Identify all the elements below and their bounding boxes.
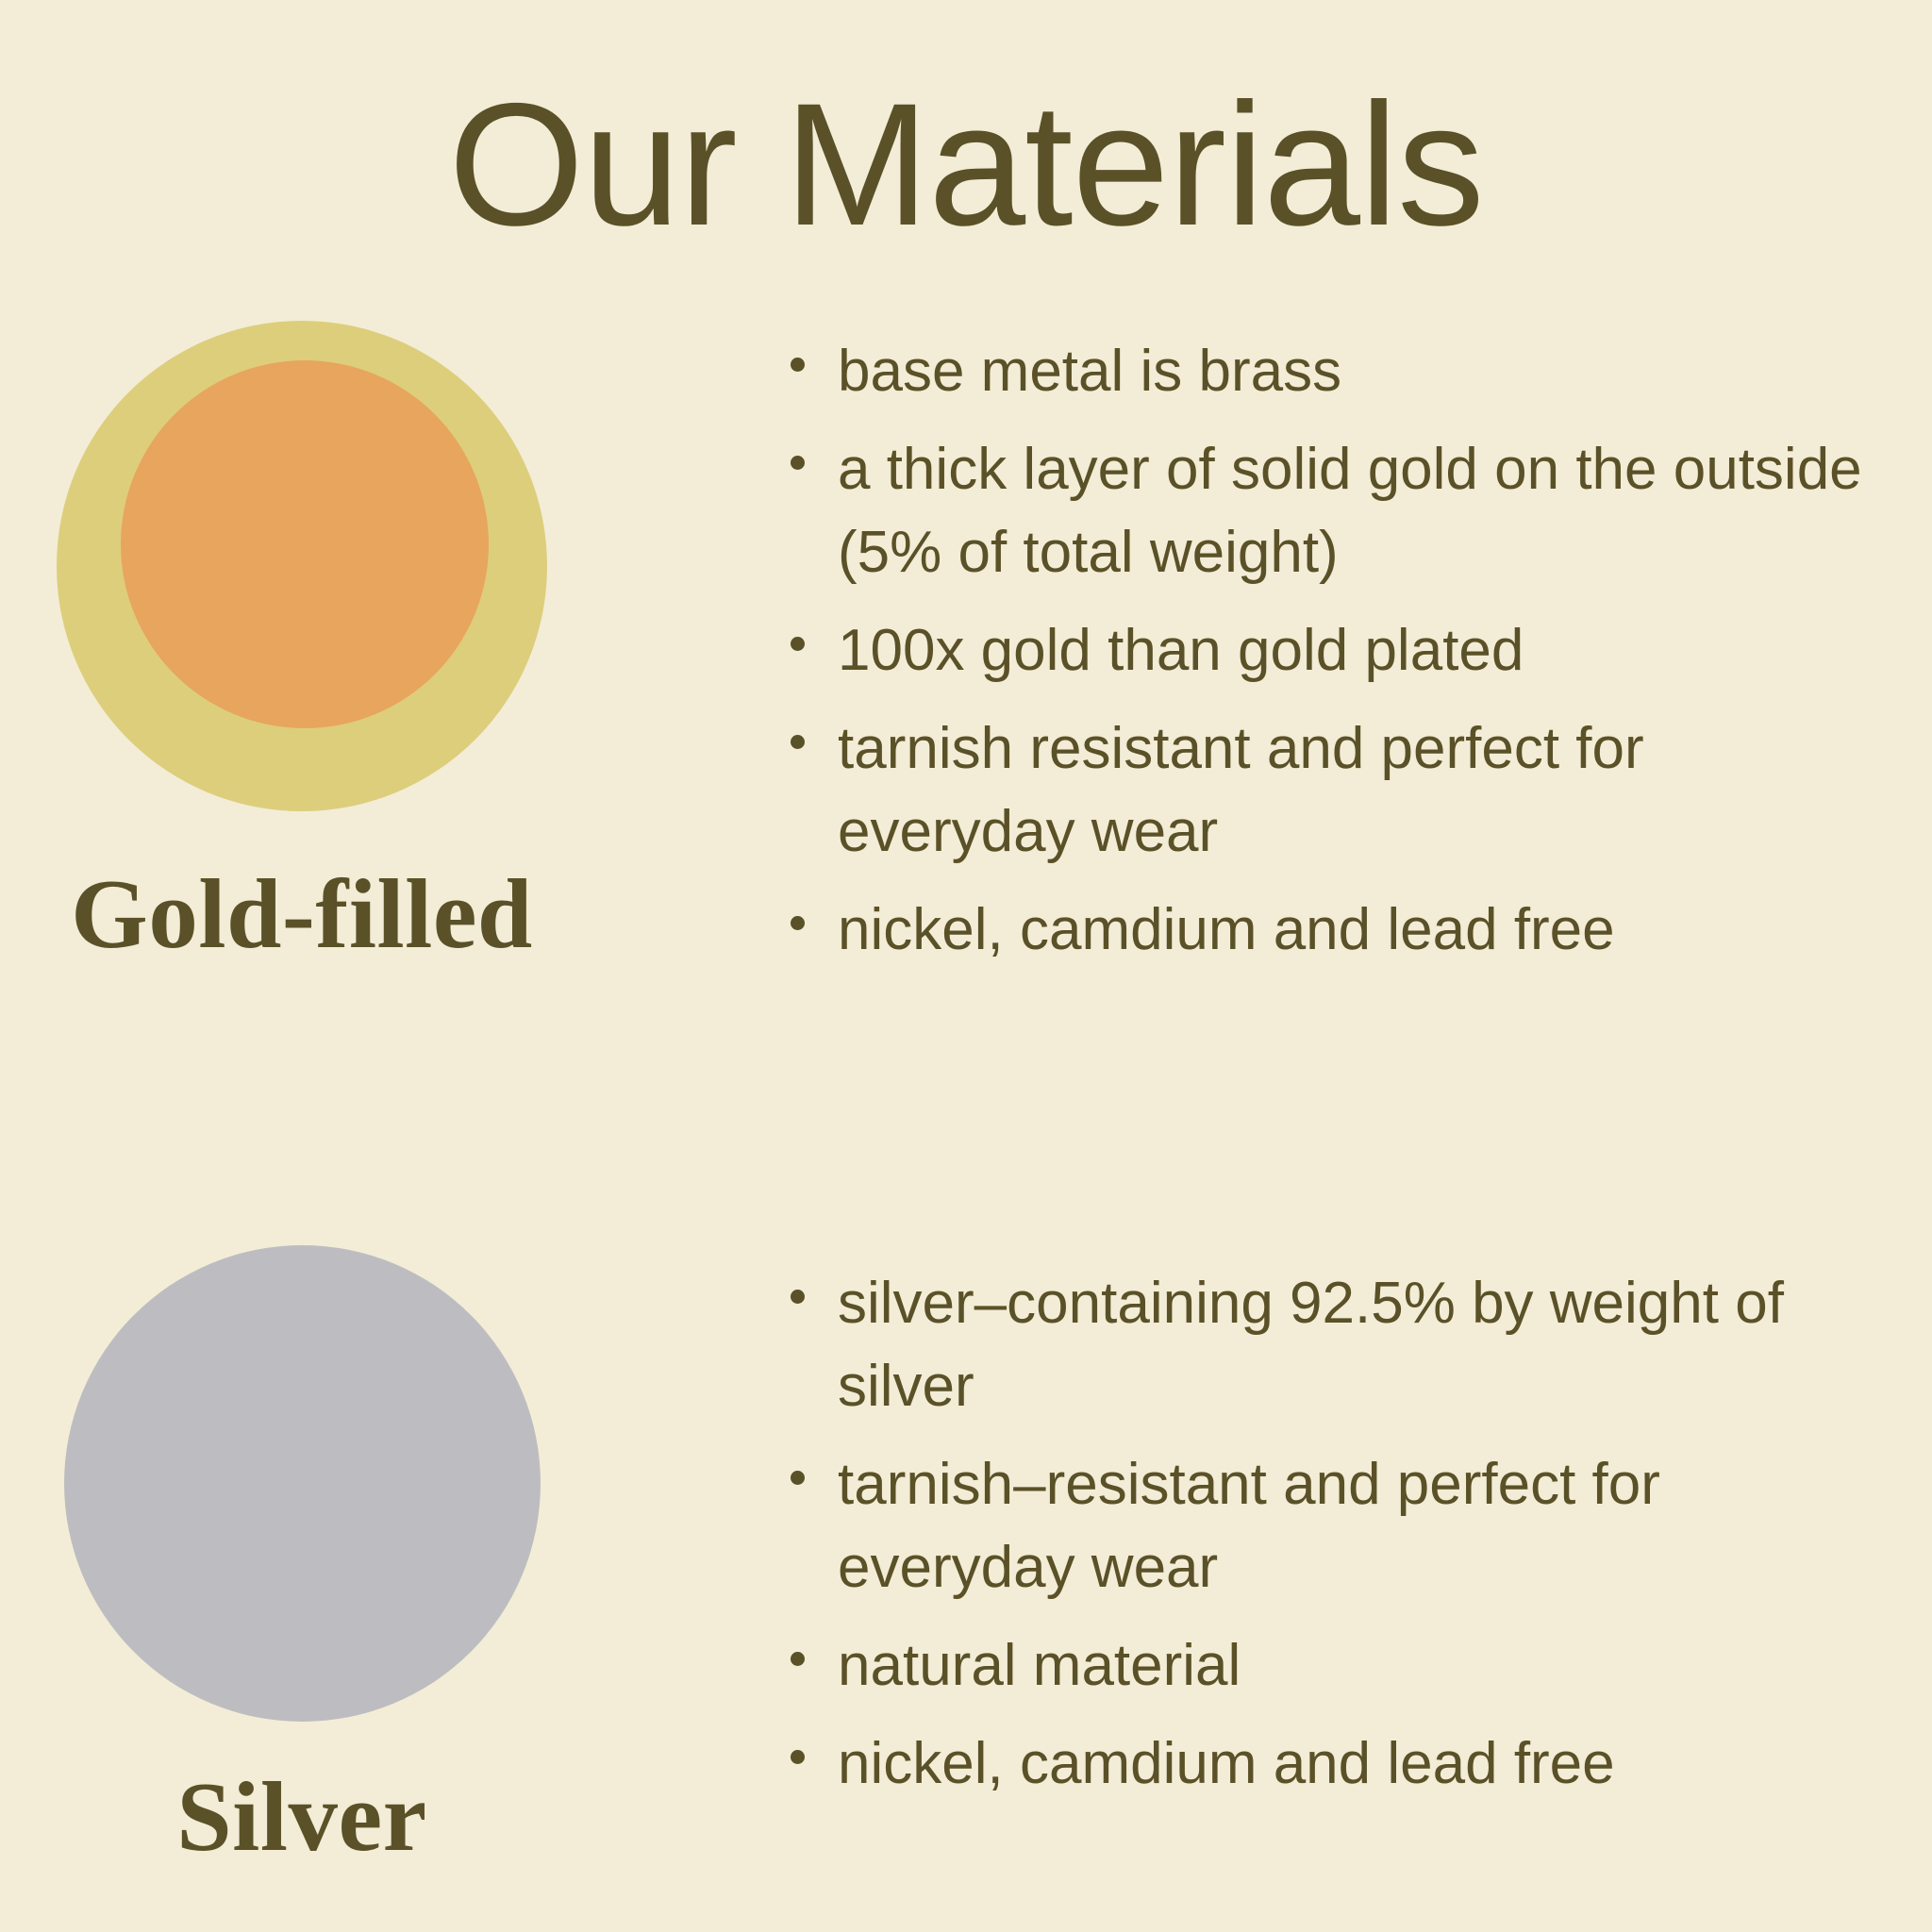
list-item: silver–containing 92.5% by weight of sil… xyxy=(783,1262,1868,1428)
list-item-text: tarnish–resistant and perfect for everyd… xyxy=(838,1452,1660,1600)
bullet-dot-icon xyxy=(791,358,805,372)
silver-label: Silver xyxy=(0,1767,604,1866)
gold-inner-circle xyxy=(121,360,489,728)
bullet-dot-icon xyxy=(791,1471,805,1485)
bullet-dot-icon xyxy=(791,735,805,749)
list-item-text: 100x gold than gold plated xyxy=(838,618,1524,683)
silver-swatch-column: Silver xyxy=(0,1245,604,1866)
silver-swatch xyxy=(64,1245,541,1722)
list-item: nickel, camdium and lead free xyxy=(783,889,1868,972)
page-title: Our Materials xyxy=(0,74,1932,257)
bullet-dot-icon xyxy=(791,637,805,651)
list-item: a thick layer of solid gold on the outsi… xyxy=(783,428,1868,594)
gold-filled-label: Gold-filled xyxy=(0,864,604,963)
list-item-text: base metal is brass xyxy=(838,339,1341,404)
list-item: base metal is brass xyxy=(783,330,1868,413)
silver-bullet-list: silver–containing 92.5% by weight of sil… xyxy=(783,1262,1868,1821)
list-item-text: silver–containing 92.5% by weight of sil… xyxy=(838,1271,1784,1419)
infographic-page: Our Materials Gold-filled base metal is … xyxy=(0,0,1932,1932)
list-item-text: tarnish resistant and perfect for everyd… xyxy=(838,716,1644,864)
section-silver: Silver silver–containing 92.5% by weight… xyxy=(0,1245,1932,1932)
bullet-dot-icon xyxy=(791,1750,805,1764)
bullet-dot-icon xyxy=(791,1652,805,1666)
list-item-text: nickel, camdium and lead free xyxy=(838,1731,1615,1796)
gold-bullet-list: base metal is brass a thick layer of sol… xyxy=(783,330,1868,987)
list-item-text: natural material xyxy=(838,1633,1241,1698)
gold-swatch xyxy=(57,321,547,811)
list-item: tarnish–resistant and perfect for everyd… xyxy=(783,1443,1868,1609)
bullet-dot-icon xyxy=(791,1290,805,1304)
bullet-dot-icon xyxy=(791,456,805,470)
list-item-text: nickel, camdium and lead free xyxy=(838,897,1615,962)
list-item: natural material xyxy=(783,1624,1868,1707)
list-item: nickel, camdium and lead free xyxy=(783,1723,1868,1806)
gold-swatch-column: Gold-filled xyxy=(0,321,604,963)
list-item: tarnish resistant and perfect for everyd… xyxy=(783,708,1868,874)
bullet-dot-icon xyxy=(791,916,805,930)
section-gold-filled: Gold-filled base metal is brass a thick … xyxy=(0,321,1932,1075)
list-item-text: a thick layer of solid gold on the outsi… xyxy=(838,437,1862,585)
list-item: 100x gold than gold plated xyxy=(783,609,1868,692)
